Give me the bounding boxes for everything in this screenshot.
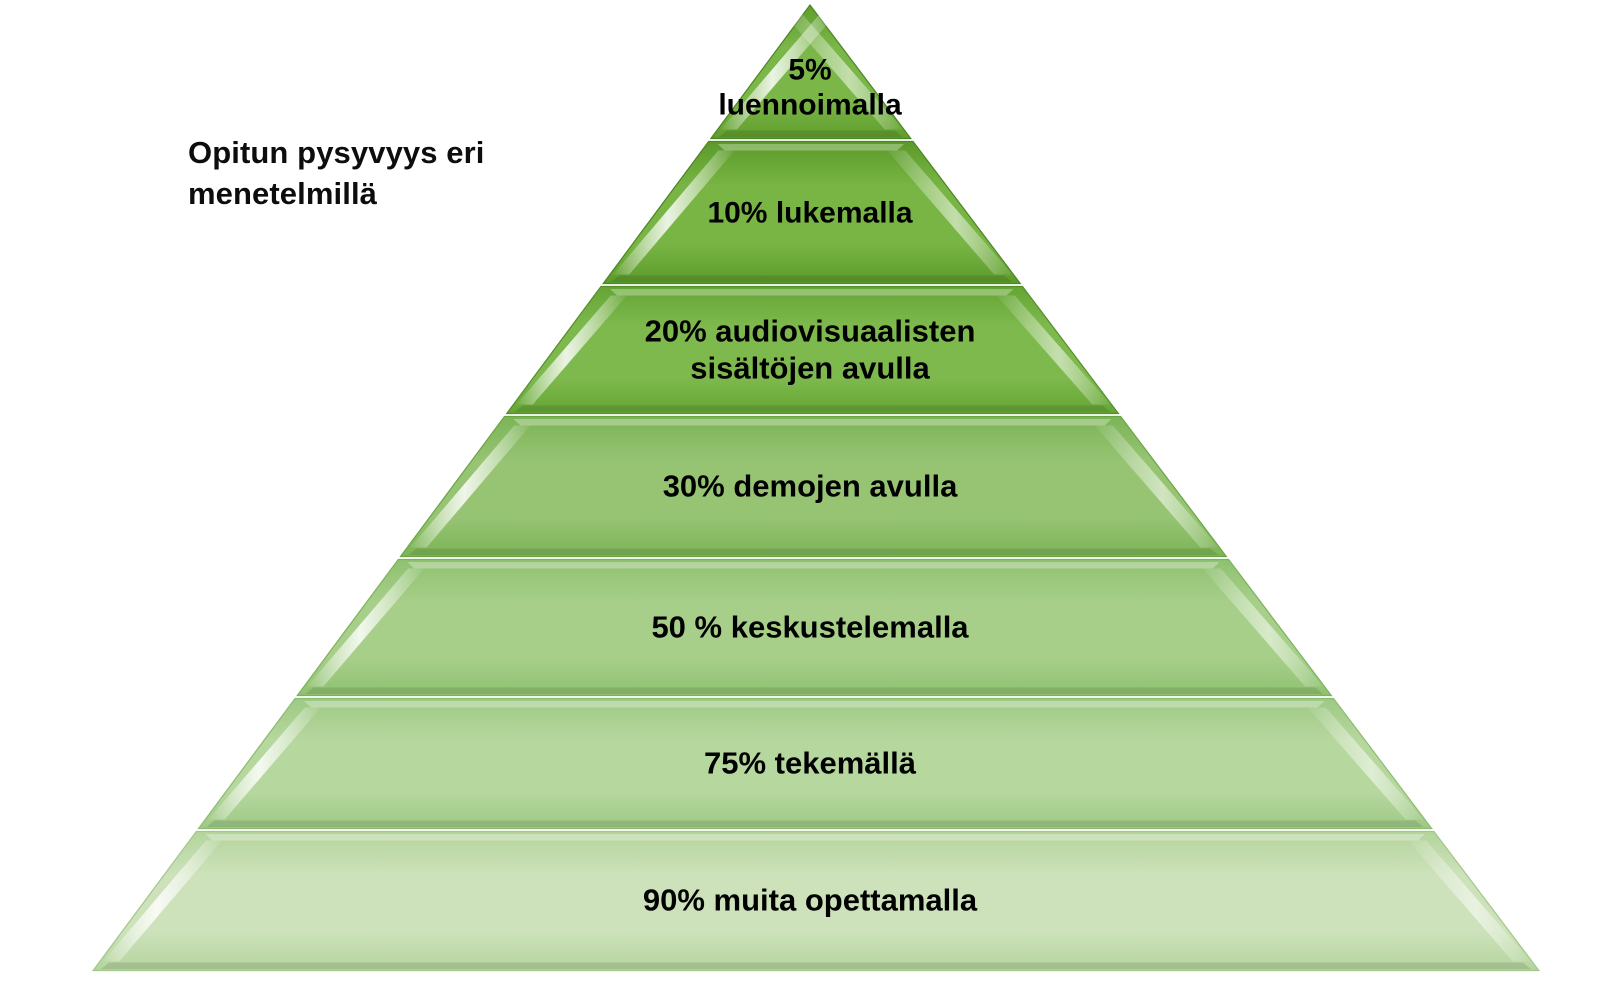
tier-body [507, 287, 1119, 414]
tier-body [199, 699, 1432, 829]
tier-top-bevel-highlight [513, 419, 1111, 426]
tier-bottom-shade [305, 688, 1323, 695]
tier-bottom-shade [101, 963, 1531, 970]
pyramid-tier [401, 417, 1227, 557]
pyramid-tier [603, 142, 1020, 284]
pyramid-svg [0, 0, 1600, 981]
tier-top-bevel-highlight [205, 834, 1425, 841]
tier-bottom-shade [409, 549, 1219, 556]
tier-bottom-shade [515, 406, 1111, 413]
tier-top-bevel-highlight [407, 562, 1219, 569]
tier-body [401, 417, 1227, 557]
tier-top-bevel-highlight [304, 701, 1324, 708]
tier-bottom-shade [207, 821, 1424, 828]
tier-bottom-shade [719, 131, 903, 138]
pyramid-tier [93, 832, 1539, 971]
tier-body [93, 832, 1539, 971]
pyramid-chart-canvas: Opitun pysyvyys eri menetelmillä 5% luen… [0, 0, 1600, 981]
tier-body [297, 560, 1331, 696]
tier-bottom-shade [611, 276, 1012, 283]
pyramid-tier [711, 5, 911, 139]
pyramid-tier [297, 560, 1331, 696]
pyramid-tier [507, 287, 1119, 414]
learning-retention-pyramid [0, 0, 1600, 981]
tier-top-bevel-highlight [610, 289, 1014, 296]
pyramid-tier [199, 699, 1432, 829]
tier-top-bevel-highlight [718, 144, 904, 151]
